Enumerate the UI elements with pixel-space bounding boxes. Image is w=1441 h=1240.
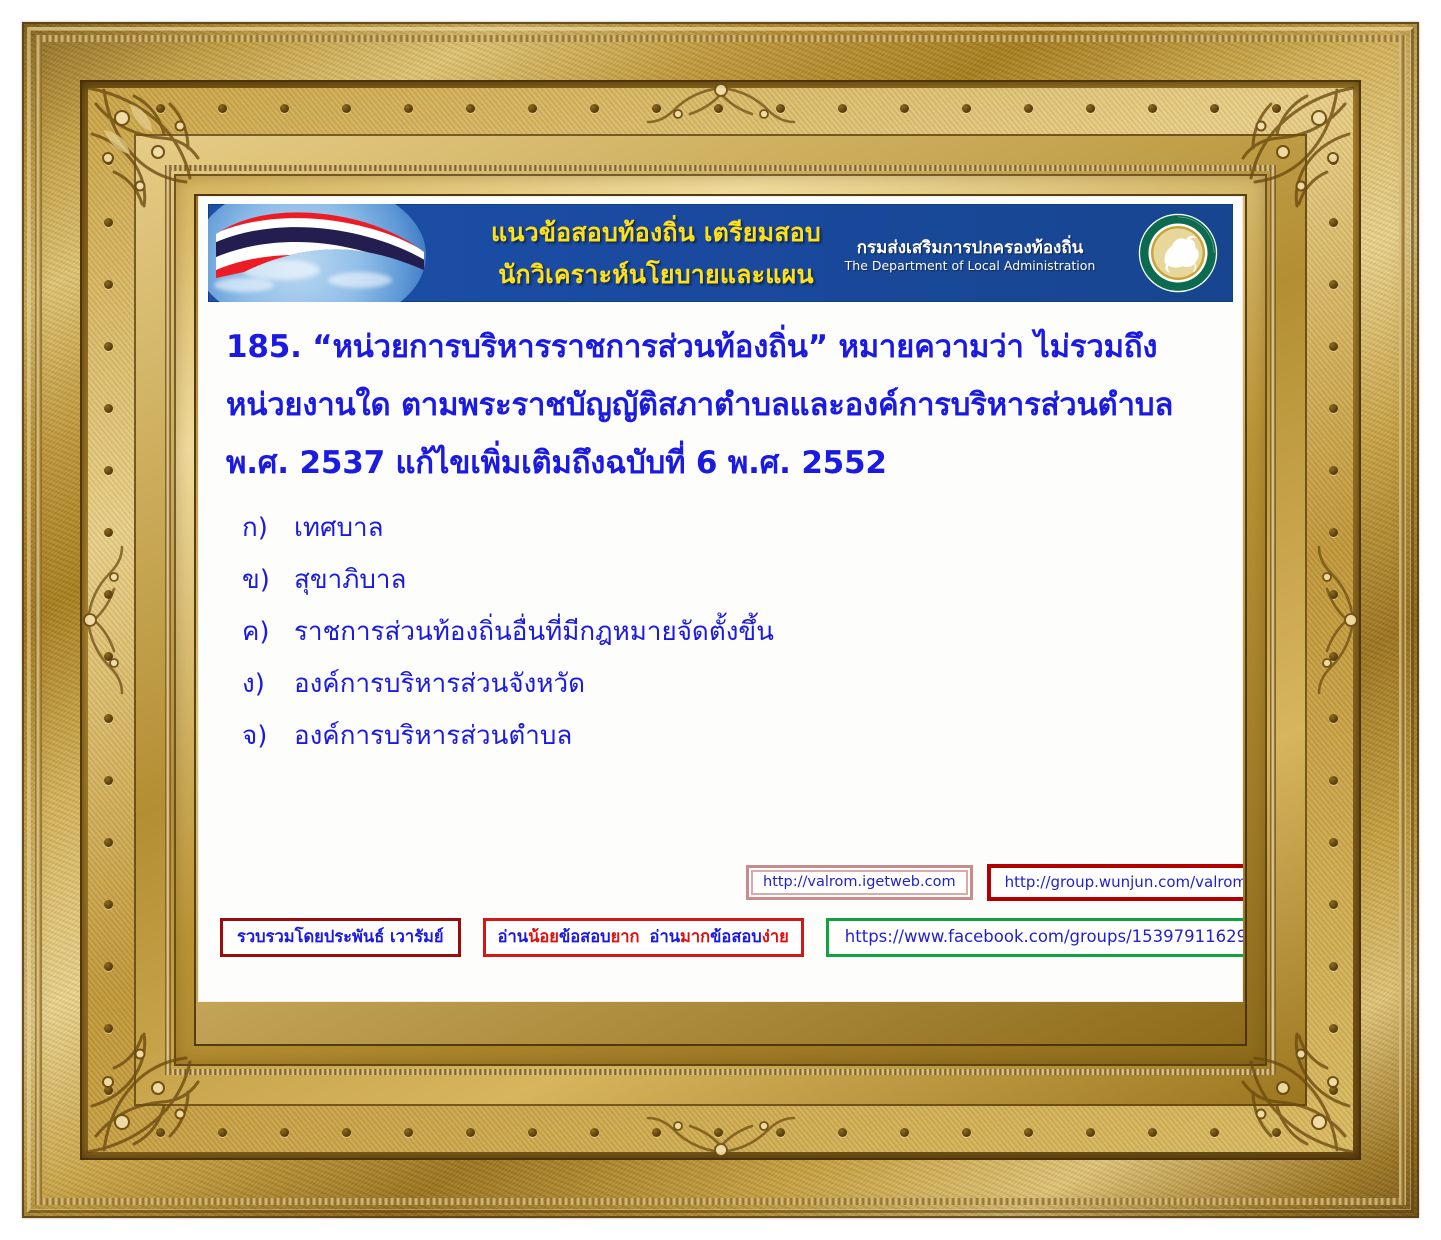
department-name-th: กรมส่งเสริมการปกครองท้องถิ่น xyxy=(825,238,1115,258)
corner-ornament-icon xyxy=(74,1016,224,1166)
screenshot-root: แนวข้อสอบท้องถิ่น เตรียมสอบ นักวิเคราะห์… xyxy=(0,0,1441,1240)
footer-links-upper: http://valrom.igetweb.com http://group.w… xyxy=(746,864,1243,901)
author-credit-label: รวบรวมโดยประพันธ์ เวารัมย์ xyxy=(237,929,444,946)
edge-scroll-ornament-icon xyxy=(1309,535,1361,705)
option-key: ง) xyxy=(242,658,294,710)
edge-scroll-ornament-icon xyxy=(80,535,132,705)
advice-seg-5: อ่าน xyxy=(650,927,680,946)
advice-seg-3: ข้อสอบ xyxy=(559,927,611,946)
advice-seg-8: ง่าย xyxy=(762,927,789,946)
advice-seg-4: ยาก xyxy=(611,927,640,946)
option-key: ข) xyxy=(242,554,294,606)
department-seal-icon xyxy=(1137,212,1219,294)
footer-links-lower: รวบรวมโดยประพันธ์ เวารัมย์ อ่านน้อยข้อสอ… xyxy=(220,918,1243,957)
option-label: เทศบาล xyxy=(294,502,1243,554)
edge-scroll-ornament-icon xyxy=(616,1108,826,1160)
slide-card: แนวข้อสอบท้องถิ่น เตรียมสอบ นักวิเคราะห์… xyxy=(198,196,1243,1002)
options-list: ก) เทศบาล ข) สุขาภิบาล ค) ราชการส่วนท้อง… xyxy=(242,502,1243,762)
link-valrom-label: http://valrom.igetweb.com xyxy=(763,875,956,890)
link-box-facebook[interactable]: https://www.facebook.com/groups/15397911… xyxy=(826,918,1243,957)
option-item[interactable]: ก) เทศบาล xyxy=(242,502,1243,554)
option-label: องค์การบริหารส่วนจังหวัด xyxy=(294,658,1243,710)
department-name: กรมส่งเสริมการปกครองท้องถิ่น The Departm… xyxy=(825,238,1115,274)
option-item[interactable]: ข) สุขาภิบาล xyxy=(242,554,1243,606)
link-box-wunjun[interactable]: http://group.wunjun.com/valrom2012 xyxy=(987,864,1243,901)
corner-ornament-icon xyxy=(1217,1016,1367,1166)
link-box-valrom[interactable]: http://valrom.igetweb.com xyxy=(746,865,973,900)
option-item[interactable]: ง) องค์การบริหารส่วนจังหวัด xyxy=(242,658,1243,710)
author-credit-box: รวบรวมโดยประพันธ์ เวารัมย์ xyxy=(220,918,461,957)
banner-title: แนวข้อสอบท้องถิ่น เตรียมสอบ นักวิเคราะห์… xyxy=(446,212,866,296)
advice-seg-2: น้อย xyxy=(528,927,559,946)
advice-seg-1: อ่าน xyxy=(498,927,528,946)
option-label: ราชการส่วนท้องถิ่นอื่นที่มีกฎหมายจัดตั้ง… xyxy=(294,606,1243,658)
option-key: ก) xyxy=(242,502,294,554)
header-banner: แนวข้อสอบท้องถิ่น เตรียมสอบ นักวิเคราะห์… xyxy=(208,204,1233,302)
thai-flag-icon xyxy=(210,208,425,300)
option-key: ค) xyxy=(242,606,294,658)
option-key: จ) xyxy=(242,710,294,762)
option-item[interactable]: จ) องค์การบริหารส่วนตำบล xyxy=(242,710,1243,762)
department-name-en: The Department of Local Administration xyxy=(825,258,1115,274)
advice-seg-6: มาก xyxy=(680,927,710,946)
banner-title-line2: นักวิเคราะห์นโยบายและแผน xyxy=(446,254,866,296)
option-item[interactable]: ค) ราชการส่วนท้องถิ่นอื่นที่มีกฎหมายจัดต… xyxy=(242,606,1243,658)
link-facebook-label: https://www.facebook.com/groups/15397911… xyxy=(845,929,1243,946)
link-wunjun-label: http://group.wunjun.com/valrom2012 xyxy=(1005,875,1243,890)
option-label: องค์การบริหารส่วนตำบล xyxy=(294,710,1243,762)
advice-seg-7: ข้อสอบ xyxy=(710,927,762,946)
edge-scroll-ornament-icon xyxy=(616,80,826,132)
banner-title-line1: แนวข้อสอบท้องถิ่น เตรียมสอบ xyxy=(446,212,866,254)
study-advice-label: อ่านน้อยข้อสอบยากอ่านมากข้อสอบง่าย xyxy=(498,929,789,946)
study-advice-box: อ่านน้อยข้อสอบยากอ่านมากข้อสอบง่าย xyxy=(483,918,804,957)
option-label: สุขาภิบาล xyxy=(294,554,1243,606)
question-text: 185. “หน่วยการบริหารราชการส่วนท้องถิ่น” … xyxy=(226,318,1219,492)
